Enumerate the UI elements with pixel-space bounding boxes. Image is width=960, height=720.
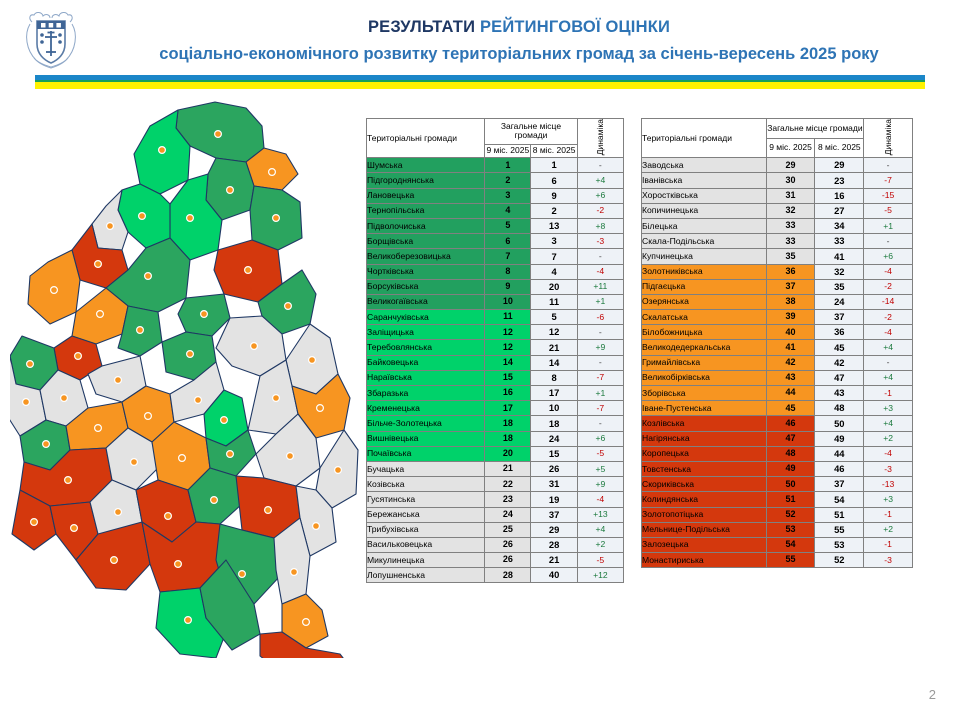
cell-dynamics: -5 [577,553,623,568]
cell-place-8m: 6 [531,173,577,188]
table-row[interactable]: Лопушненська2840+12 [367,568,624,583]
cell-place-8m: 5 [531,310,577,325]
cell-dynamics: +1 [864,218,913,233]
cell-place-9m: 7 [485,249,531,264]
cell-community-name: Шумська [367,158,485,173]
cell-dynamics: +4 [864,416,913,431]
table-row[interactable]: Скала-Подільська3333- [642,234,913,249]
cell-dynamics: +4 [864,340,913,355]
cell-place-9m: 40 [766,325,815,340]
cell-place-8m: 4 [531,264,577,279]
table-row[interactable]: Борсуківська920+11 [367,279,624,294]
cell-community-name: Заводська [642,158,767,173]
cell-place-9m: 18 [485,416,531,431]
table-row[interactable]: Великодедеркальська4145+4 [642,340,913,355]
cell-dynamics: -3 [864,461,913,476]
table-row[interactable]: Колиндянська5154+3 [642,492,913,507]
title-block: РЕЗУЛЬТАТИ РЕЙТИНГОВОЇ ОЦІНКИ соціально-… [96,16,942,66]
cell-place-8m: 20 [531,279,577,294]
cell-place-9m: 30 [766,173,815,188]
cell-dynamics: - [577,325,623,340]
cell-community-name: Борсуківська [367,279,485,294]
cell-dynamics: +9 [577,477,623,492]
table-row[interactable]: Скориківська5037-13 [642,477,913,492]
table-row[interactable]: Козлівська4650+4 [642,416,913,431]
cell-place-9m: 6 [485,234,531,249]
cell-community-name: Почаївська [367,446,485,461]
cell-place-8m: 23 [815,173,864,188]
table-row[interactable]: Тернопільська42-2 [367,203,624,218]
cell-dynamics: -4 [577,492,623,507]
table-row[interactable]: Вишнівецька1824+6 [367,431,624,446]
cell-place-9m: 23 [485,492,531,507]
cell-dynamics: -6 [577,310,623,325]
cell-community-name: Білобожницька [642,325,767,340]
cell-place-8m: 41 [815,249,864,264]
cell-place-9m: 9 [485,279,531,294]
cell-community-name: Іване-Пустенська [642,401,767,416]
cell-dynamics: -4 [577,264,623,279]
cell-dynamics: +8 [577,218,623,233]
table-body-right: Заводська2929-Іванівська3023-7Хоростківс… [642,158,913,568]
cell-community-name: Залозецька [642,537,767,552]
cell-dynamics: +9 [577,340,623,355]
cell-dynamics: -2 [864,279,913,294]
cell-dynamics: - [864,234,913,249]
cell-community-name: Золотниківська [642,264,767,279]
cell-place-9m: 11 [485,310,531,325]
band-stripe-yellow [35,82,925,89]
table-row[interactable]: Микулинецька2621-5 [367,553,624,568]
flag-band [35,75,925,89]
cell-community-name: Товстенська [642,461,767,476]
cell-community-name: Вишнівецька [367,431,485,446]
cell-community-name: Васильковецька [367,537,485,552]
cell-place-9m: 22 [485,477,531,492]
cell-community-name: Зборівська [642,386,767,401]
cell-place-9m: 29 [766,158,815,173]
cell-place-9m: 32 [766,203,815,218]
cell-place-9m: 33 [766,218,815,233]
table-row[interactable]: Золотниківська3632-4 [642,264,913,279]
cell-community-name: Трибухівська [367,522,485,537]
cell-place-9m: 51 [766,492,815,507]
cell-dynamics: +4 [577,522,623,537]
cell-place-9m: 39 [766,310,815,325]
cell-place-8m: 24 [531,431,577,446]
cell-community-name: Підволочиська [367,218,485,233]
cell-place-8m: 53 [815,537,864,552]
cell-place-8m: 15 [531,446,577,461]
cell-community-name: Більче-Золотецька [367,416,485,431]
cell-place-8m: 33 [815,234,864,249]
col-header-overall-place: Загальне місце громади [485,119,578,145]
table-row[interactable]: Заводська2929- [642,158,913,173]
cell-community-name: Великобірківська [642,370,767,385]
table-row[interactable]: Гусятинська2319-4 [367,492,624,507]
table-row[interactable]: Нараївська158-7 [367,370,624,385]
page-title-part2: РЕЙТИНГОВОЇ ОЦІНКИ [480,18,670,36]
cell-dynamics: -5 [577,446,623,461]
cell-place-9m: 26 [485,537,531,552]
cell-place-8m: 43 [815,386,864,401]
cell-dynamics: +3 [864,492,913,507]
page-title-part1: РЕЗУЛЬТАТИ [368,18,480,36]
cell-place-9m: 16 [485,386,531,401]
cell-dynamics: -7 [577,401,623,416]
cell-community-name: Нагірянська [642,431,767,446]
cell-dynamics: +12 [577,568,623,583]
cell-place-8m: 1 [531,158,577,173]
cell-dynamics: -2 [864,310,913,325]
cell-dynamics: - [864,158,913,173]
cell-place-9m: 26 [485,553,531,568]
cell-dynamics: -4 [864,264,913,279]
cell-dynamics: -7 [864,173,913,188]
cell-place-8m: 44 [815,446,864,461]
cell-place-8m: 16 [815,188,864,203]
cell-place-9m: 45 [766,401,815,416]
cell-community-name: Чортківська [367,264,485,279]
cell-dynamics: +6 [577,188,623,203]
cell-dynamics: -2 [577,203,623,218]
cell-dynamics: -4 [864,446,913,461]
cell-dynamics: -15 [864,188,913,203]
cell-dynamics: -5 [864,203,913,218]
cell-dynamics: -1 [864,537,913,552]
cell-dynamics: - [864,355,913,370]
cell-place-8m: 46 [815,461,864,476]
cell-dynamics: - [577,355,623,370]
cell-community-name: Колиндянська [642,492,767,507]
cell-community-name: Збаразька [367,386,485,401]
col-header-overall-place: Загальне місце громади [766,119,864,139]
cell-place-8m: 19 [531,492,577,507]
cell-place-9m: 28 [485,568,531,583]
cell-community-name: Лановецька [367,188,485,203]
ranking-table-left[interactable]: Територіальні громади Загальне місце гро… [366,118,624,583]
cell-dynamics: +2 [864,431,913,446]
table-row[interactable]: Заліщицька1212- [367,325,624,340]
table-row[interactable]: Підгаєцька3735-2 [642,279,913,294]
cell-community-name: Мельнице-Подільська [642,522,767,537]
cell-community-name: Бережанська [367,507,485,522]
cell-place-9m: 50 [766,477,815,492]
table-row[interactable]: Козівська2231+9 [367,477,624,492]
table-row[interactable]: Скалатська3937-2 [642,310,913,325]
cell-dynamics: +3 [864,401,913,416]
table-row[interactable]: Почаївська2015-5 [367,446,624,461]
table-row[interactable]: Хоростківська3116-15 [642,188,913,203]
cell-place-8m: 8 [531,370,577,385]
cell-place-8m: 54 [815,492,864,507]
cell-dynamics: -3 [577,234,623,249]
cell-community-name: Байковецька [367,355,485,370]
cell-dynamics: +4 [577,173,623,188]
cell-place-8m: 7 [531,249,577,264]
table-row[interactable]: Чортківська84-4 [367,264,624,279]
table-row[interactable]: Іванівська3023-7 [642,173,913,188]
table-row[interactable]: Нагірянська4749+2 [642,431,913,446]
cell-community-name: Козівська [367,477,485,492]
cell-community-name: Гусятинська [367,492,485,507]
cell-community-name: Великогаївська [367,294,485,309]
cell-community-name: Нараївська [367,370,485,385]
cell-dynamics: +5 [577,461,623,476]
cell-place-9m: 31 [766,188,815,203]
cell-dynamics: - [577,249,623,264]
cell-place-9m: 10 [485,294,531,309]
ranking-table-right[interactable]: Територіальні громади Загальне місце гро… [641,118,913,568]
cell-dynamics: -1 [864,386,913,401]
cell-community-name: Кременецька [367,401,485,416]
cell-community-name: Копичинецька [642,203,767,218]
cell-community-name: Скала-Подільська [642,234,767,249]
cell-place-8m: 32 [815,264,864,279]
cell-dynamics: +1 [577,294,623,309]
cell-place-8m: 45 [815,340,864,355]
table-row[interactable]: Монастириська5552-3 [642,553,913,568]
cell-community-name: Скалатська [642,310,767,325]
table-row[interactable]: Підгороднянська26+4 [367,173,624,188]
cell-community-name: Заліщицька [367,325,485,340]
cell-place-8m: 21 [531,340,577,355]
cell-place-8m: 51 [815,507,864,522]
table-row[interactable]: Збаразька1617+1 [367,386,624,401]
col-header-dynamics: Динаміка [864,119,913,158]
table-row[interactable]: Коропецька4844-4 [642,446,913,461]
col-header-period-8m: 8 міс. 2025 [815,138,864,158]
cell-community-name: Підгороднянська [367,173,485,188]
cell-place-8m: 24 [815,294,864,309]
cell-place-8m: 27 [815,203,864,218]
cell-place-9m: 33 [766,234,815,249]
col-header-period-9m: 9 міс. 2025 [766,138,815,158]
table-row[interactable]: Васильковецька2628+2 [367,537,624,552]
cell-place-8m: 31 [531,477,577,492]
cell-dynamics: +6 [864,249,913,264]
table-row[interactable]: Теребовлянська1221+9 [367,340,624,355]
slide-header: РЕЗУЛЬТАТИ РЕЙТИНГОВОЇ ОЦІНКИ соціально-… [0,0,960,95]
cell-place-9m: 20 [485,446,531,461]
cell-community-name: Іванівська [642,173,767,188]
cell-place-8m: 3 [531,234,577,249]
cell-place-8m: 11 [531,294,577,309]
cell-place-9m: 49 [766,461,815,476]
cell-place-9m: 1 [485,158,531,173]
cell-place-8m: 28 [531,537,577,552]
cell-dynamics: -3 [864,553,913,568]
cell-place-9m: 48 [766,446,815,461]
cell-place-9m: 4 [485,203,531,218]
cell-community-name: Микулинецька [367,553,485,568]
cell-place-9m: 47 [766,431,815,446]
cell-community-name: Хоростківська [642,188,767,203]
cell-place-8m: 35 [815,279,864,294]
cell-dynamics: -13 [864,477,913,492]
col-header-community: Територіальні громади [642,119,767,158]
cell-place-9m: 2 [485,173,531,188]
cell-community-name: Саранчуківська [367,310,485,325]
table-row[interactable]: Трибухівська2529+4 [367,522,624,537]
cell-community-name: Лопушненська [367,568,485,583]
col-header-dynamics: Динаміка [577,119,623,158]
cell-community-name: Борщівська [367,234,485,249]
cell-place-9m: 54 [766,537,815,552]
page-title: РЕЗУЛЬТАТИ РЕЙТИНГОВОЇ ОЦІНКИ [96,16,942,38]
table-row[interactable]: Бережанська2437+13 [367,507,624,522]
table-row[interactable]: Товстенська4946-3 [642,461,913,476]
cell-place-9m: 14 [485,355,531,370]
cell-community-name: Гримайлівська [642,355,767,370]
table-row[interactable]: Байковецька1414- [367,355,624,370]
cell-community-name: Золотопотіцька [642,507,767,522]
table-row[interactable]: Зборівська4443-1 [642,386,913,401]
cell-place-8m: 9 [531,188,577,203]
cell-dynamics: +4 [864,370,913,385]
cell-place-8m: 14 [531,355,577,370]
cell-place-8m: 34 [815,218,864,233]
cell-place-8m: 18 [531,416,577,431]
table-row[interactable]: Кременецька1710-7 [367,401,624,416]
cell-place-9m: 25 [485,522,531,537]
table-row[interactable]: Саранчуківська115-6 [367,310,624,325]
table-row[interactable]: Мельнице-Подільська5355+2 [642,522,913,537]
table-row[interactable]: Більче-Золотецька1818- [367,416,624,431]
cell-place-8m: 48 [815,401,864,416]
table-row[interactable]: Великоберезовицька77- [367,249,624,264]
table-row[interactable]: Підволочиська513+8 [367,218,624,233]
cell-community-name: Козлівська [642,416,767,431]
cell-place-9m: 46 [766,416,815,431]
page-number: 2 [929,687,936,702]
cell-place-9m: 3 [485,188,531,203]
table-row[interactable]: Бучацька2126+5 [367,461,624,476]
cell-dynamics: +13 [577,507,623,522]
table-row[interactable]: Копичинецька3227-5 [642,203,913,218]
cell-place-9m: 17 [485,401,531,416]
table-row[interactable]: Золотопотіцька5251-1 [642,507,913,522]
cell-community-name: Озерянська [642,294,767,309]
coat-of-arms-icon [22,8,80,70]
cell-dynamics: +11 [577,279,623,294]
table-row[interactable]: Озерянська3824-14 [642,294,913,309]
cell-place-9m: 42 [766,355,815,370]
col-header-community: Територіальні громади [367,119,485,158]
cell-place-8m: 29 [815,158,864,173]
cell-place-8m: 17 [531,386,577,401]
cell-place-8m: 37 [815,477,864,492]
cell-place-9m: 44 [766,386,815,401]
cell-place-9m: 41 [766,340,815,355]
cell-dynamics: -7 [577,370,623,385]
cell-community-name: Білецька [642,218,767,233]
table-row[interactable]: Іване-Пустенська4548+3 [642,401,913,416]
table-row[interactable]: Великобірківська4347+4 [642,370,913,385]
table-row[interactable]: Шумська11- [367,158,624,173]
cell-community-name: Купчинецька [642,249,767,264]
cell-dynamics: +2 [577,537,623,552]
cell-dynamics: -1 [864,507,913,522]
cell-place-9m: 18 [485,431,531,446]
cell-dynamics: +2 [864,522,913,537]
cell-place-8m: 2 [531,203,577,218]
cell-community-name: Великоберезовицька [367,249,485,264]
table-row[interactable]: Борщівська63-3 [367,234,624,249]
cell-place-8m: 49 [815,431,864,446]
cell-place-8m: 50 [815,416,864,431]
table-row[interactable]: Білобожницька4036-4 [642,325,913,340]
col-header-period-8m: 8 міс. 2025 [531,144,577,158]
cell-dynamics: +6 [577,431,623,446]
table-row[interactable]: Залозецька5453-1 [642,537,913,552]
cell-place-8m: 37 [531,507,577,522]
cell-place-8m: 26 [531,461,577,476]
cell-place-8m: 42 [815,355,864,370]
cell-place-9m: 24 [485,507,531,522]
cell-place-9m: 55 [766,553,815,568]
cell-dynamics: +1 [577,386,623,401]
cell-dynamics: -4 [864,325,913,340]
cell-place-9m: 5 [485,218,531,233]
cell-community-name: Теребовлянська [367,340,485,355]
cell-place-9m: 8 [485,264,531,279]
cell-place-8m: 10 [531,401,577,416]
cell-community-name: Тернопільська [367,203,485,218]
cell-place-9m: 38 [766,294,815,309]
table-row[interactable]: Білецька3334+1 [642,218,913,233]
cell-community-name: Підгаєцька [642,279,767,294]
cell-place-9m: 43 [766,370,815,385]
cell-place-9m: 21 [485,461,531,476]
cell-place-8m: 29 [531,522,577,537]
cell-dynamics: - [577,158,623,173]
table-body-left: Шумська11-Підгороднянська26+4Лановецька3… [367,158,624,583]
cell-place-9m: 52 [766,507,815,522]
cell-community-name: Скориківська [642,477,767,492]
cell-place-8m: 52 [815,553,864,568]
cell-dynamics: - [577,416,623,431]
cell-place-9m: 12 [485,340,531,355]
col-header-period-9m: 9 міс. 2025 [485,144,531,158]
cell-place-9m: 36 [766,264,815,279]
cell-place-8m: 36 [815,325,864,340]
cell-place-8m: 40 [531,568,577,583]
cell-community-name: Монастириська [642,553,767,568]
cell-place-9m: 53 [766,522,815,537]
page-subtitle: соціально-економічного розвитку територі… [96,42,942,66]
cell-community-name: Бучацька [367,461,485,476]
cell-place-8m: 47 [815,370,864,385]
cell-dynamics: -14 [864,294,913,309]
cell-place-9m: 37 [766,279,815,294]
ternopil-oblast-map[interactable] [10,98,360,658]
cell-place-8m: 21 [531,553,577,568]
cell-place-9m: 35 [766,249,815,264]
table-row[interactable]: Гримайлівська4242- [642,355,913,370]
cell-place-8m: 37 [815,310,864,325]
cell-place-8m: 12 [531,325,577,340]
cell-place-8m: 13 [531,218,577,233]
table-row[interactable]: Купчинецька3541+6 [642,249,913,264]
table-row[interactable]: Лановецька39+6 [367,188,624,203]
cell-community-name: Коропецька [642,446,767,461]
cell-place-9m: 15 [485,370,531,385]
table-row[interactable]: Великогаївська1011+1 [367,294,624,309]
cell-place-8m: 55 [815,522,864,537]
cell-place-9m: 12 [485,325,531,340]
cell-community-name: Великодедеркальська [642,340,767,355]
